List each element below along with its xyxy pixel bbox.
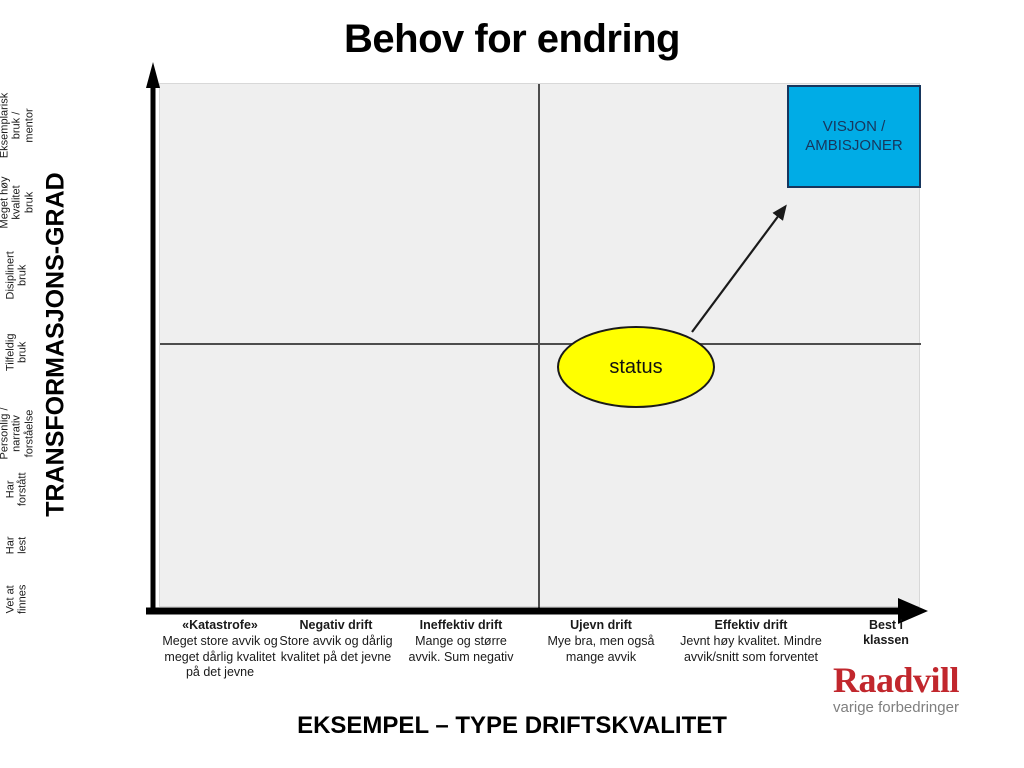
status-node[interactable]: status <box>557 326 715 408</box>
x-axis-tick-heading: Best i klassen <box>846 618 926 649</box>
status-node-label: status <box>609 356 662 379</box>
vision-ambitions-box[interactable]: VISJON /AMBISJONER <box>787 85 921 188</box>
x-axis-tick-label: Effektiv driftJevnt høy kvalitet. Mindre… <box>665 618 837 665</box>
y-axis-tick-label: Vet atfinnes <box>5 524 30 674</box>
x-axis-tick-description: Mye bra, men også mange avvik <box>545 634 657 665</box>
x-axis-tick-description: Meget store avvik og meget dårlig kvalit… <box>158 634 282 680</box>
x-axis-tick-label: Best i klassen <box>846 618 926 650</box>
x-axis-tick-heading: «Katastrofe» <box>158 618 282 633</box>
x-axis-tick-heading: Ujevn drift <box>545 618 657 633</box>
x-axis-tick-heading: Ineffektiv drift <box>400 618 522 633</box>
quadrant-divider-horizontal <box>160 343 921 345</box>
x-axis-tick-description: Mange og større avvik. Sum negativ <box>400 634 522 665</box>
x-axis-tick-label: Ineffektiv driftMange og større avvik. S… <box>400 618 522 665</box>
x-axis-tick-heading: Effektiv drift <box>665 618 837 633</box>
company-logo: Raadvill varige forbedringer <box>806 662 986 717</box>
y-axis-title: TRANSFORMASJONS-GRAD <box>42 145 71 545</box>
x-axis-tick-heading: Negativ drift <box>268 618 404 633</box>
y-axis-arrow-icon <box>146 62 160 610</box>
vision-ambitions-label: VISJON /AMBISJONER <box>805 118 903 156</box>
quadrant-divider-vertical <box>538 84 540 608</box>
logo-wordmark: Raadvill <box>806 662 986 698</box>
x-axis-tick-label: Negativ driftStore avvik og dårlig kvali… <box>268 618 404 665</box>
logo-tagline: varige forbedringer <box>806 700 986 717</box>
growth-arrow-icon <box>680 190 810 340</box>
x-axis-tick-label: «Katastrofe»Meget store avvik og meget d… <box>158 618 282 680</box>
x-axis-tick-description: Jevnt høy kvalitet. Mindre avvik/snitt s… <box>665 634 837 665</box>
page-title: Behov for endring <box>0 18 1024 60</box>
x-axis-tick-description: Store avvik og dårlig kvalitet på det je… <box>268 634 404 665</box>
x-axis-tick-label: Ujevn driftMye bra, men også mange avvik <box>545 618 657 665</box>
